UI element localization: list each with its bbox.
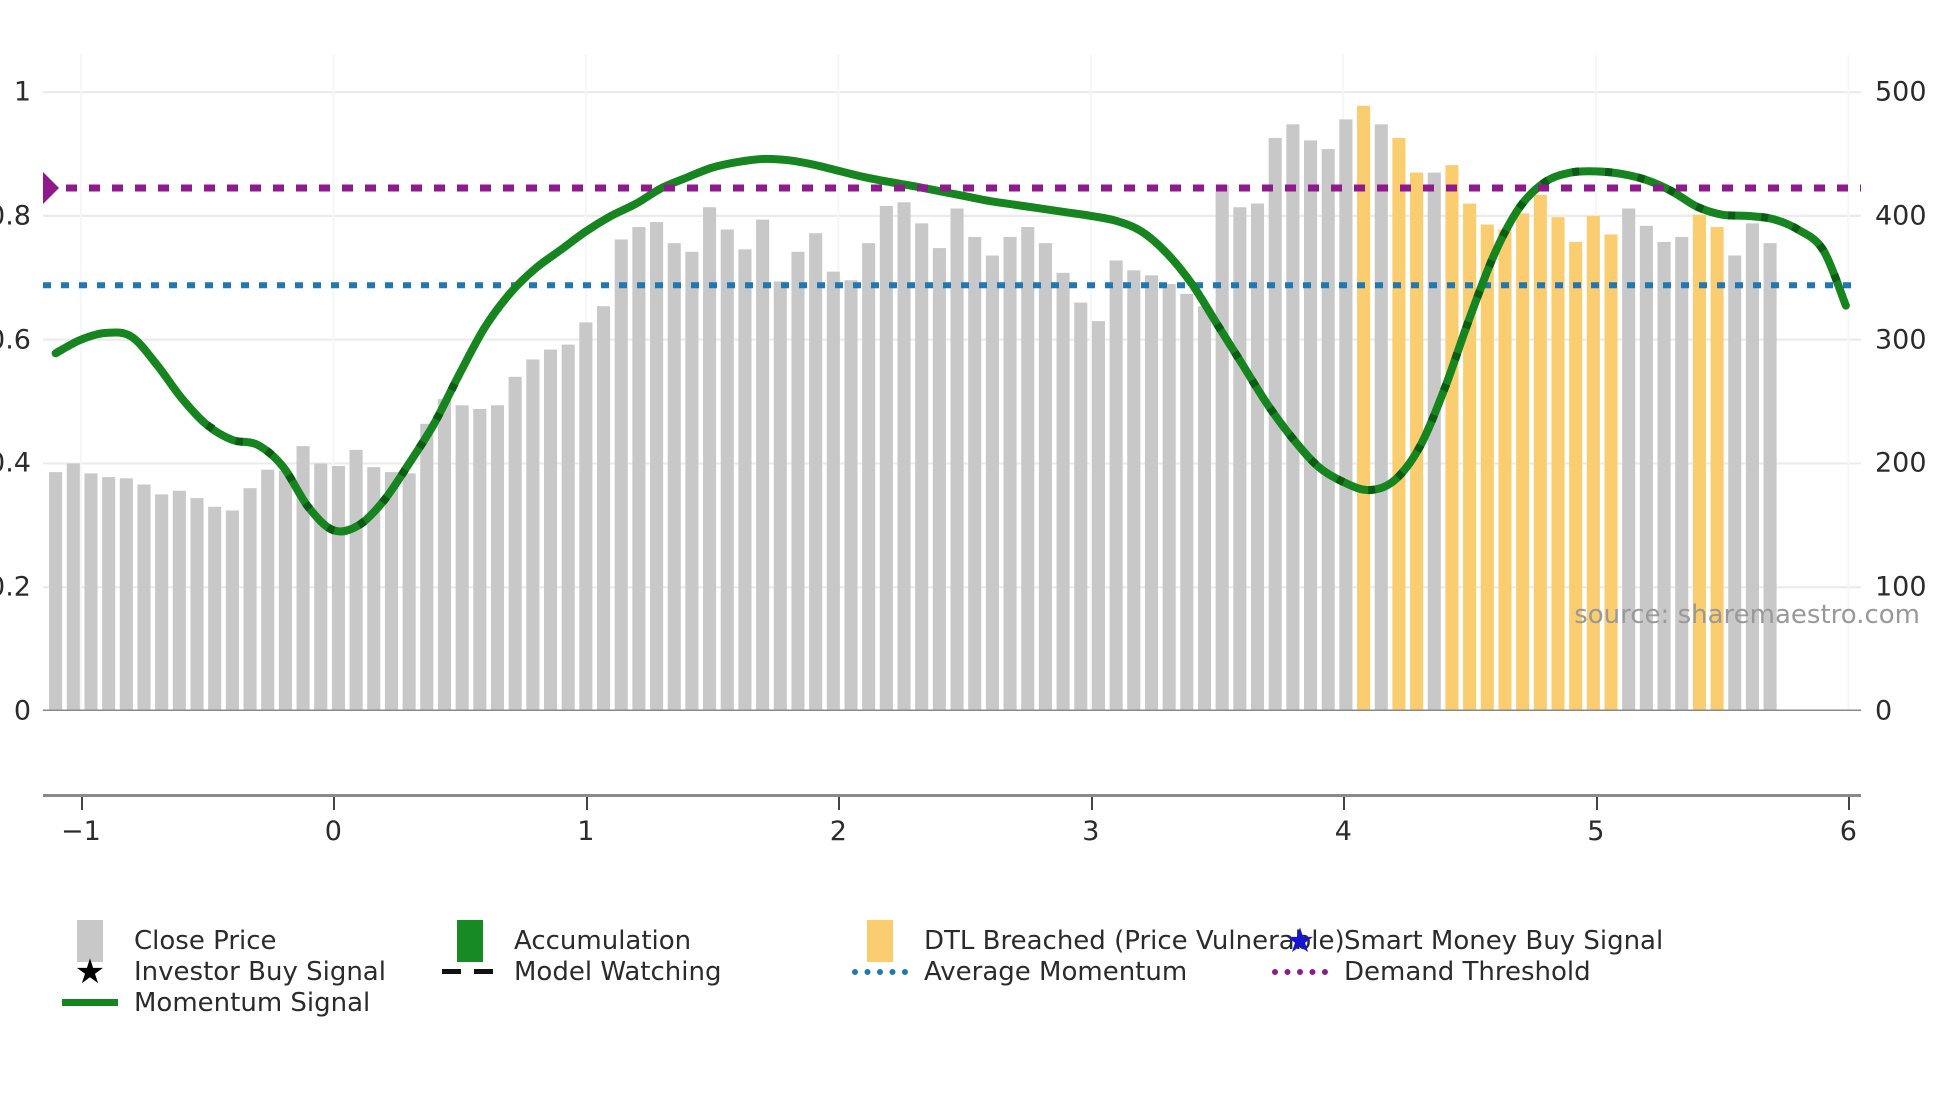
chart-legend: Close PriceAccumulationDTL Breached (Pri…: [62, 925, 1942, 1018]
bar-close-price: [67, 463, 80, 711]
x-axis-spine: [43, 794, 1861, 797]
x-axis-tick-label: 2: [830, 816, 847, 847]
x-axis-tick-label: −1: [61, 816, 101, 847]
x-axis-tick-label: 5: [1587, 816, 1604, 847]
bar-close-price: [685, 252, 698, 711]
x-axis-tick-label: 0: [325, 816, 342, 847]
bar-close-price: [314, 463, 327, 711]
bar-close-price: [1304, 140, 1317, 711]
bar-close-price: [1339, 119, 1352, 711]
y-axis-right-tick-label: 300: [1875, 324, 1927, 355]
bar-close-price: [1145, 275, 1158, 711]
bar-close-price: [1746, 223, 1759, 711]
bar-close-price: [827, 272, 840, 711]
bar-close-price: [1057, 273, 1070, 711]
bar-close-price: [279, 471, 292, 711]
x-axis-tick-label: 4: [1335, 816, 1352, 847]
bar-close-price: [120, 478, 133, 711]
bar-close-price: [1322, 149, 1335, 711]
legend-row: Close PriceAccumulationDTL Breached (Pri…: [62, 925, 1942, 956]
bar-close-price: [1180, 294, 1193, 711]
bar-close-price: [862, 243, 875, 711]
y-axis-left-tick-label: 0: [14, 696, 31, 727]
legend-item-label: Momentum Signal: [134, 988, 370, 1018]
bar-close-price: [738, 249, 751, 711]
bar-close-price: [597, 306, 610, 711]
legend-item-label: Investor Buy Signal: [134, 957, 386, 987]
x-axis-tick-mark: [586, 796, 588, 810]
bar-close-price: [897, 202, 910, 711]
dashed-line-icon: [442, 969, 498, 974]
bar-close-price: [84, 473, 97, 711]
x-axis-tick-label: 1: [577, 816, 594, 847]
bar-close-price: [1198, 306, 1211, 711]
demand-threshold-diamond-marker: [43, 172, 59, 204]
bar-close-price: [509, 377, 522, 711]
legend-item-average-momentum[interactable]: Average Momentum: [852, 957, 1187, 987]
y-axis-right-tick-label: 200: [1875, 448, 1927, 479]
bar-close-price: [49, 472, 62, 711]
bar-close-price: [632, 227, 645, 711]
legend-item-label: Accumulation: [514, 926, 691, 956]
legend-item-label: Close Price: [134, 926, 277, 956]
y-axis-left-tick-label: 0.8: [0, 200, 31, 231]
y-axis-left-tick-label: 0.6: [0, 324, 31, 355]
bar-close-price: [721, 230, 734, 711]
bar-close-price: [350, 450, 363, 711]
bar-dtl-breached: [1392, 138, 1405, 711]
y-axis-right-tick-label: 500: [1875, 77, 1927, 108]
legend-item-model-watching[interactable]: Model Watching: [442, 957, 721, 987]
bar-close-price: [1251, 204, 1264, 711]
legend-item-label: Smart Money Buy Signal: [1344, 926, 1663, 956]
legend-item-smart-money[interactable]: ★Smart Money Buy Signal: [1272, 924, 1663, 958]
y-axis-left-tick-label: 0.4: [0, 448, 31, 479]
bar-close-price: [1004, 237, 1017, 711]
bar-dtl-breached: [1357, 106, 1370, 711]
legend-item-label: Average Momentum: [924, 957, 1187, 987]
y-axis-right-tick-label: 100: [1875, 572, 1927, 603]
bar-close-price: [650, 222, 663, 711]
bar-close-price: [1216, 185, 1229, 711]
legend-item-label: Demand Threshold: [1344, 957, 1591, 987]
bar-close-price: [1110, 260, 1123, 711]
solid-line-icon: [62, 999, 118, 1006]
bar-close-price: [668, 243, 681, 711]
bar-close-price: [844, 280, 857, 711]
legend-item-label: Model Watching: [514, 957, 721, 987]
star-icon: ★: [75, 955, 105, 989]
bar-close-price: [544, 350, 557, 711]
bar-close-price: [1092, 321, 1105, 711]
bar-dtl-breached: [1463, 204, 1476, 711]
bar-close-price: [244, 488, 257, 711]
bar-dtl-breached: [1693, 215, 1706, 711]
bar-close-price: [332, 466, 345, 711]
bar-close-price: [1039, 243, 1052, 711]
y-axis-left-tick-label: 1: [14, 77, 31, 108]
bar-close-price: [1163, 284, 1176, 711]
x-axis-tick-mark: [1596, 796, 1598, 810]
bar-close-price: [1127, 270, 1140, 711]
y-axis-right-tick-label: 400: [1875, 200, 1927, 231]
x-axis-tick-mark: [1091, 796, 1093, 810]
bar-close-price: [155, 494, 168, 711]
x-axis-tick-mark: [1848, 796, 1850, 810]
bar-close-price: [915, 223, 928, 711]
bar-close-price: [791, 252, 804, 711]
x-axis-tick-mark: [838, 796, 840, 810]
bar-close-price: [526, 359, 539, 711]
bar-close-price: [1021, 227, 1034, 711]
bar-close-price: [1286, 124, 1299, 711]
bar-dtl-breached: [1587, 216, 1600, 711]
dotted-line-icon: [1272, 969, 1328, 975]
source-note: source: sharemaestro.com: [1574, 600, 1920, 630]
bar-dtl-breached: [1569, 242, 1582, 711]
bar-dtl-breached: [1711, 227, 1724, 711]
star-icon: ★: [1285, 924, 1315, 958]
bar-close-price: [615, 239, 628, 711]
bar-close-price: [986, 256, 999, 711]
bar-close-price: [1074, 303, 1087, 711]
x-axis-tick-label: 6: [1840, 816, 1857, 847]
bar-close-price: [473, 409, 486, 711]
bar-dtl-breached: [1551, 217, 1564, 711]
bar-close-price: [774, 282, 787, 711]
bar-dtl-breached: [1445, 165, 1458, 711]
bar-close-price: [456, 405, 469, 711]
x-axis-tick-mark: [81, 796, 83, 810]
bar-close-price: [809, 233, 822, 711]
legend-row: ★Investor Buy SignalModel WatchingAverag…: [62, 956, 1942, 987]
bar-close-price: [438, 399, 451, 711]
x-axis-tick-mark: [333, 796, 335, 810]
bar-close-price: [190, 498, 203, 711]
bar-close-price: [1764, 243, 1777, 711]
bar-close-price: [579, 322, 592, 711]
bar-close-price: [562, 345, 575, 711]
bar-close-price: [1675, 237, 1688, 711]
bar-close-price: [1375, 124, 1388, 711]
bar-close-price: [208, 507, 221, 711]
y-axis-left-tick-label: 0.2: [0, 572, 31, 603]
bar-close-price: [1728, 256, 1741, 711]
bar-close-price: [933, 248, 946, 711]
bar-close-price: [1428, 173, 1441, 711]
bar-close-price: [880, 206, 893, 711]
bar-dtl-breached: [1498, 230, 1511, 711]
dotted-line-icon: [852, 969, 908, 975]
bar-close-price: [1640, 226, 1653, 711]
legend-item-momentum-signal[interactable]: Momentum Signal: [62, 988, 370, 1018]
bar-close-price: [173, 491, 186, 711]
bar-close-price: [756, 220, 769, 711]
bar-close-price: [102, 477, 115, 711]
bar-dtl-breached: [1534, 195, 1547, 711]
bar-close-price: [403, 473, 416, 711]
legend-row: Momentum Signal: [62, 987, 1942, 1018]
bar-dtl-breached: [1481, 225, 1494, 711]
bar-close-price: [968, 237, 981, 711]
x-axis-tick-label: 3: [1082, 816, 1099, 847]
bar-close-price: [226, 510, 239, 711]
y-axis-right-tick-label: 0: [1875, 696, 1892, 727]
legend-item-demand-threshold[interactable]: Demand Threshold: [1272, 957, 1591, 987]
bar-close-price: [1658, 242, 1671, 711]
bar-close-price: [491, 405, 504, 711]
chart-page: 00.20.40.60.810100200300400500−10123456 …: [0, 0, 1960, 1102]
bar-close-price: [385, 472, 398, 711]
bar-close-price: [137, 484, 150, 711]
bar-dtl-breached: [1604, 234, 1617, 711]
bar-close-price: [261, 470, 274, 711]
x-axis-tick-mark: [1343, 796, 1345, 810]
legend-item-investor-buy[interactable]: ★Investor Buy Signal: [62, 955, 386, 989]
bar-close-price: [420, 424, 433, 711]
